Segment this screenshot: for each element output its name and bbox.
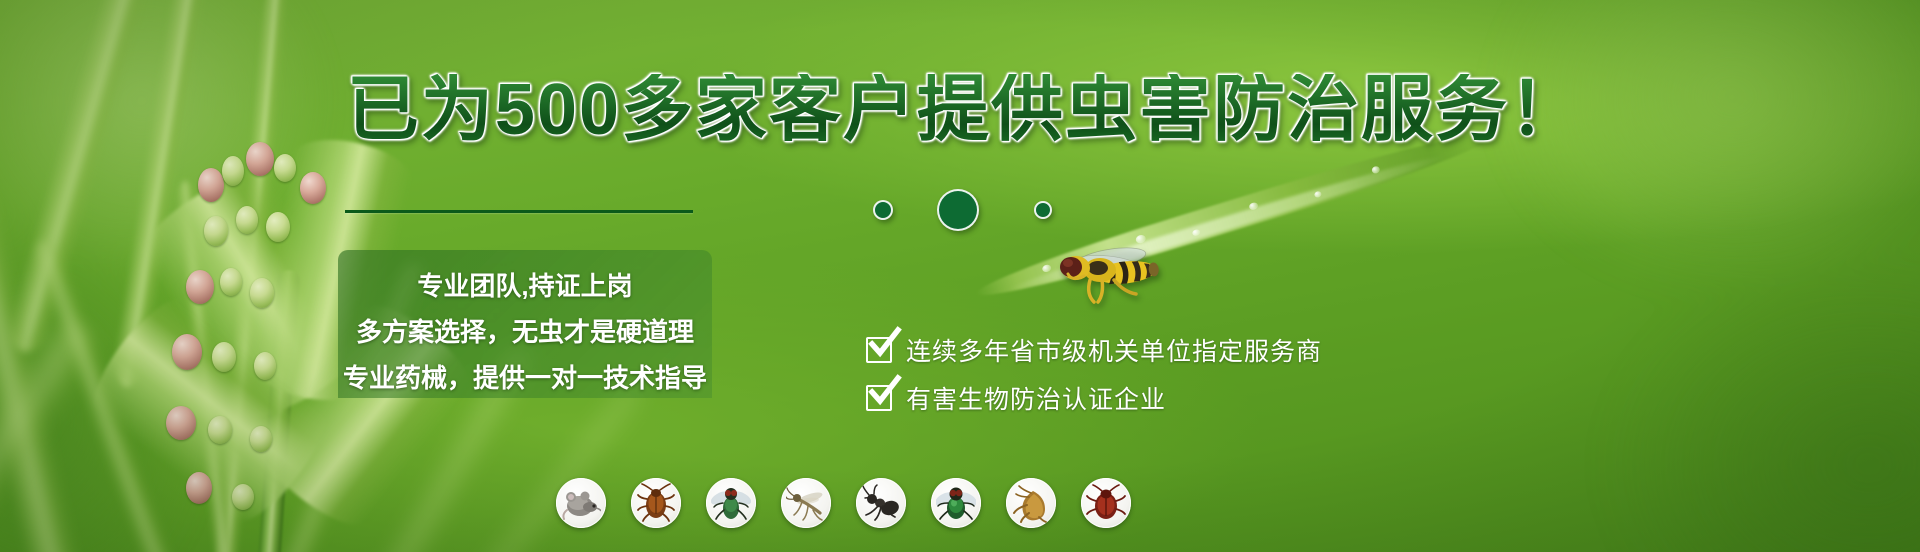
bedbug-icon[interactable] xyxy=(1081,478,1131,528)
checklist-item-label: 有害生物防治认证企业 xyxy=(906,380,1166,416)
blowfly-icon[interactable] xyxy=(931,478,981,528)
mouse-icon[interactable] xyxy=(556,478,606,528)
pest-icon-row xyxy=(556,478,1131,528)
slogan-panel: 专业团队,持证上岗 多方案选择，无虫才是硬道理 专业药械，提供一对一技术指导 xyxy=(338,250,712,398)
fly-icon[interactable] xyxy=(706,478,756,528)
cockroach-icon[interactable] xyxy=(631,478,681,528)
slogan-line-1: 专业团队,持证上岗 xyxy=(338,266,712,303)
checklist-item-label: 连续多年省市级机关单位指定服务商 xyxy=(906,332,1322,368)
mosquito-icon[interactable] xyxy=(781,478,831,528)
dot-small-left xyxy=(873,200,893,220)
checklist-item: 有害生物防治认证企业 xyxy=(866,374,1322,422)
credentials-checklist: 连续多年省市级机关单位指定服务商 有害生物防治认证企业 xyxy=(866,326,1322,422)
page-title: 已为500多家客户提供虫害防治服务！ xyxy=(0,74,1920,146)
dot-small-right xyxy=(1034,201,1052,219)
slogan-line-3: 专业药械，提供一对一技术指导 xyxy=(338,358,712,395)
ant-icon[interactable] xyxy=(856,478,906,528)
hoverfly-on-leaf xyxy=(1040,240,1170,310)
checklist-item: 连续多年省市级机关单位指定服务商 xyxy=(866,326,1322,374)
checkbox-checked-icon xyxy=(866,385,892,411)
dot-large-mid xyxy=(937,189,979,231)
checkbox-checked-icon xyxy=(866,337,892,363)
flea-icon[interactable] xyxy=(1006,478,1056,528)
divider-rule xyxy=(345,210,693,213)
slogan-line-2: 多方案选择，无虫才是硬道理 xyxy=(338,312,712,349)
pest-control-hero-banner: 已为500多家客户提供虫害防治服务！ xyxy=(0,0,1920,552)
